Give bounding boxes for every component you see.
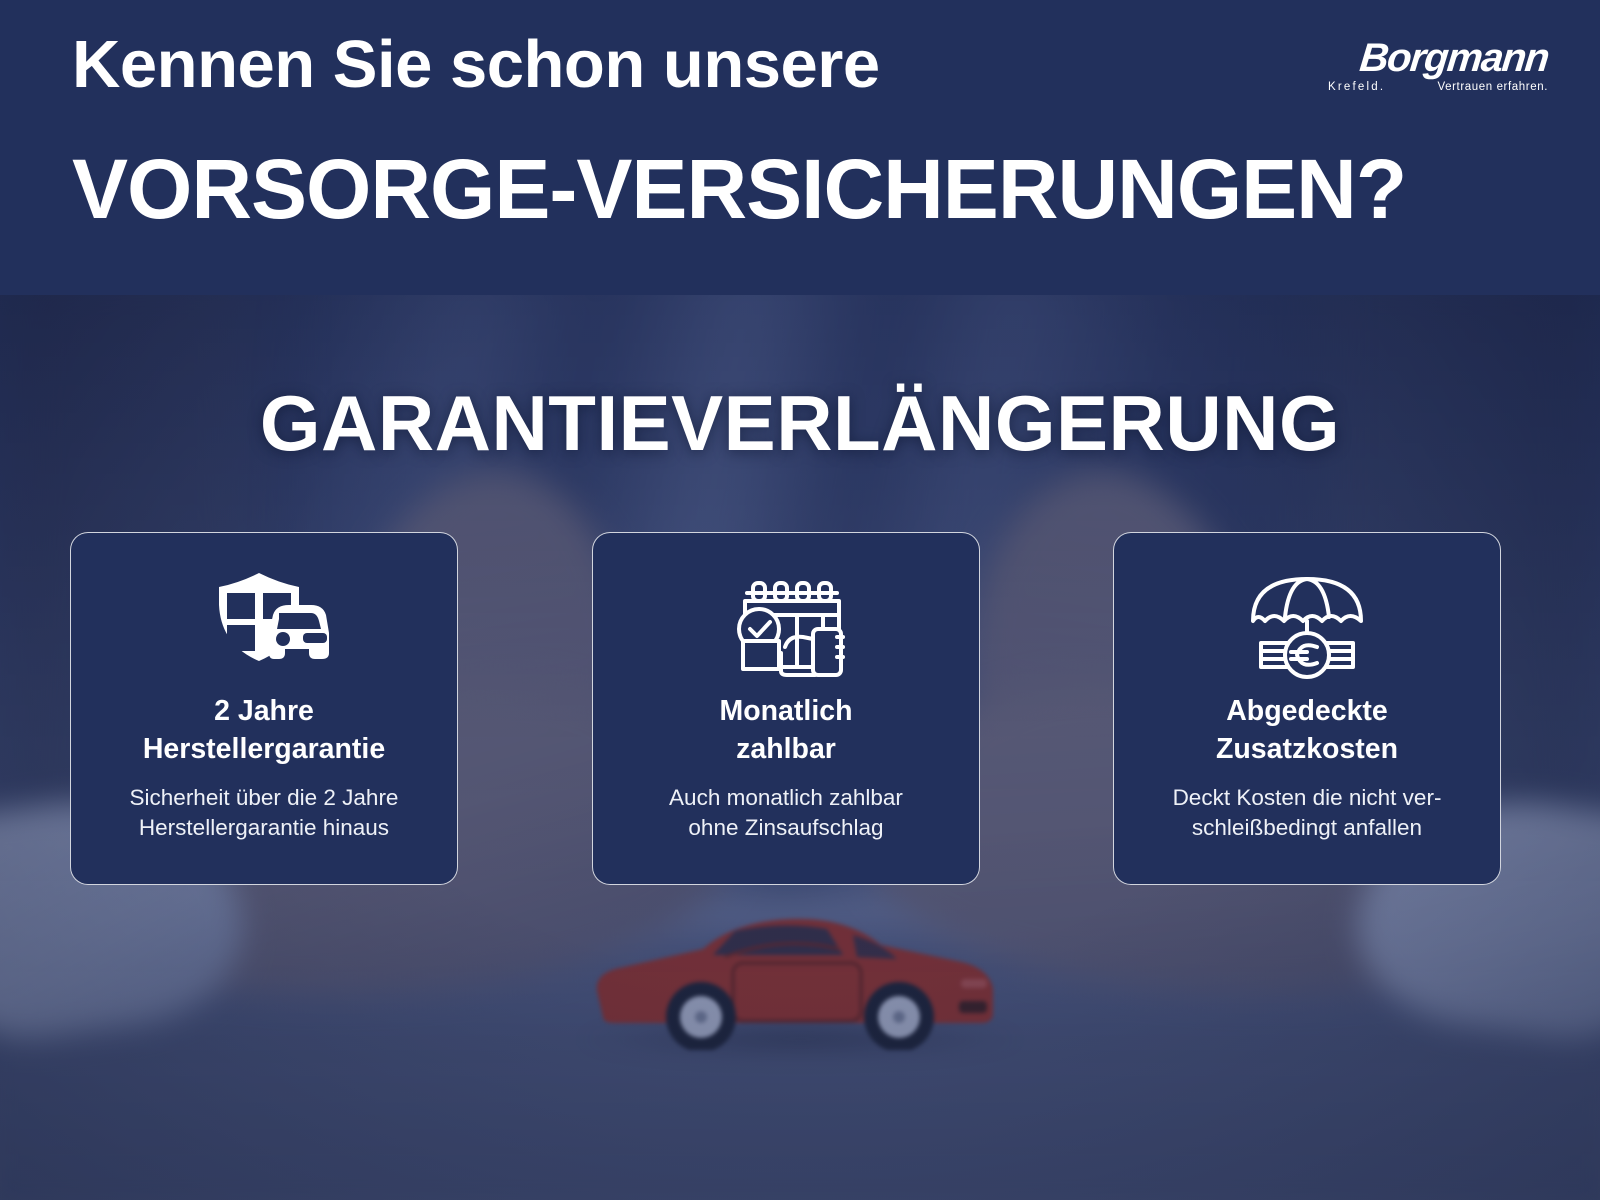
- logo-tagline: Krefeld. Vertrauen erfahren.: [1328, 81, 1548, 93]
- card-description: Deckt Kosten die nicht ver- schleißbedin…: [1173, 783, 1442, 844]
- card-title-line-2: Zusatzkosten: [1216, 731, 1398, 769]
- card-desc-line-1: Deckt Kosten die nicht ver-: [1173, 783, 1442, 813]
- logo-tagline-claim: Vertrauen erfahren.: [1438, 81, 1549, 93]
- card-title: Monatlich zahlbar: [720, 693, 853, 769]
- logo-tagline-city: Krefeld.: [1328, 81, 1385, 93]
- card-desc-line-2: schleißbedingt anfallen: [1173, 813, 1442, 843]
- feature-card-monthly[interactable]: Monatlich zahlbar Auch monatlich zahlbar…: [592, 532, 980, 885]
- header-line-1: Kennen Sie schon unsere: [72, 30, 880, 100]
- card-title-line-1: Monatlich: [720, 693, 853, 731]
- card-title-line-2: zahlbar: [720, 731, 853, 769]
- card-desc-line-1: Auch monatlich zahlbar: [669, 783, 903, 813]
- card-title-line-1: Abgedeckte: [1216, 693, 1398, 731]
- calendar-payment-icon: [727, 567, 845, 679]
- card-title: 2 Jahre Herstellergarantie: [143, 693, 385, 769]
- card-desc-line-1: Sicherheit über die 2 Jahre: [130, 783, 399, 813]
- card-title-line-1: 2 Jahre: [143, 693, 385, 731]
- card-description: Sicherheit über die 2 Jahre Herstellerga…: [130, 783, 399, 844]
- umbrella-coins-icon: [1245, 567, 1369, 679]
- card-description: Auch monatlich zahlbar ohne Zinsaufschla…: [669, 783, 903, 844]
- card-desc-line-2: Herstellergarantie hinaus: [130, 813, 399, 843]
- card-title-line-2: Herstellergarantie: [143, 731, 385, 769]
- promo-banner: Kennen Sie schon unsere VORSORGE-VERSICH…: [0, 0, 1600, 1200]
- logo-wordmark: Borgmann: [1326, 38, 1550, 78]
- feature-card-warranty[interactable]: 2 Jahre Herstellergarantie Sicherheit üb…: [70, 532, 458, 885]
- feature-card-extra-costs[interactable]: Abgedeckte Zusatzkosten Deckt Kosten die…: [1113, 532, 1501, 885]
- header-line-2: VORSORGE-VERSICHERUNGEN?: [72, 145, 1406, 233]
- card-desc-line-2: ohne Zinsaufschlag: [669, 813, 903, 843]
- borgmann-logo: Borgmann Krefeld. Vertrauen erfahren.: [1328, 38, 1548, 93]
- page-title: GARANTIEVERLÄNGERUNG: [0, 378, 1600, 469]
- card-title: Abgedeckte Zusatzkosten: [1216, 693, 1398, 769]
- shield-car-icon: [199, 567, 329, 679]
